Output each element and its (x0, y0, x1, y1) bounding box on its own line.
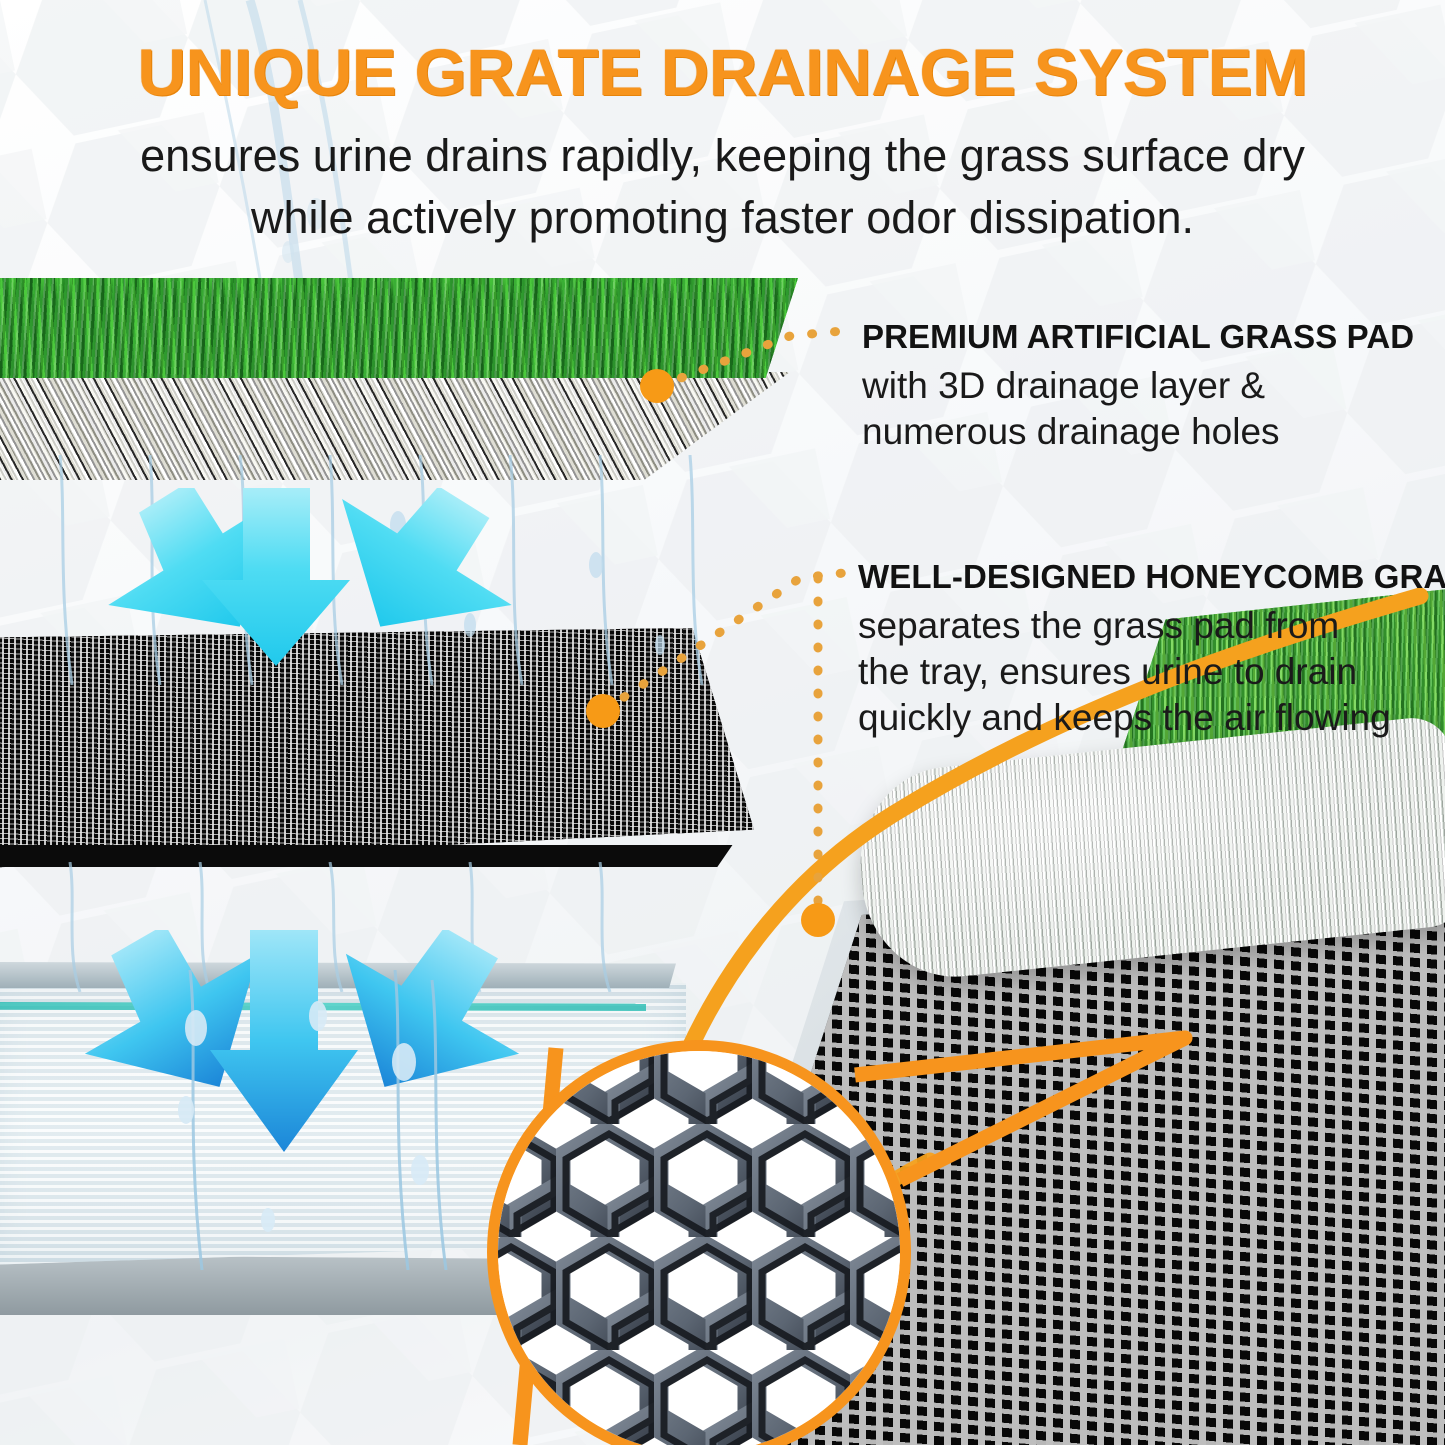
callout-grate-body-line-1: separates the grass pad from (858, 603, 1445, 649)
leader-line-grate (605, 572, 852, 710)
callout-grate-body-line-3: quickly and keeps the air flowing (858, 695, 1445, 741)
leader-anchor-dots (586, 369, 835, 937)
magnifier-lens (487, 1040, 911, 1445)
hexagon-cells-zoomed (487, 1040, 911, 1445)
callout-grass-body-line-2: numerous drainage holes (862, 409, 1414, 455)
infographic-canvas: UNIQUE GRATE DRAINAGE SYSTEM ensures uri… (0, 0, 1445, 1445)
honeycomb-detail-magnifier (487, 1040, 917, 1445)
subtitle-line-2: while actively promoting faster odor dis… (0, 187, 1445, 249)
anchor-dot-grate (586, 694, 620, 728)
callout-honeycomb-grate: WELL-DESIGNED HONEYCOMB GRATE separates … (858, 558, 1445, 741)
page-title: UNIQUE GRATE DRAINAGE SYSTEM (0, 34, 1445, 110)
leader-line-grass (660, 330, 852, 386)
anchor-dot-photo-grate (801, 903, 835, 937)
callout-premium-grass-pad: PREMIUM ARTIFICIAL GRASS PAD with 3D dra… (862, 318, 1414, 455)
callout-grate-body: separates the grass pad from the tray, e… (858, 603, 1445, 741)
callout-grate-body-line-2: the tray, ensures urine to drain (858, 649, 1445, 695)
subtitle-line-1: ensures urine drains rapidly, keeping th… (0, 125, 1445, 187)
callout-grass-body-line-1: with 3D drainage layer & (862, 363, 1414, 409)
callout-grass-body: with 3D drainage layer & numerous draina… (862, 363, 1414, 455)
page-subtitle: ensures urine drains rapidly, keeping th… (0, 125, 1445, 249)
callout-grate-heading: WELL-DESIGNED HONEYCOMB GRATE (858, 558, 1445, 596)
callout-grass-heading: PREMIUM ARTIFICIAL GRASS PAD (862, 318, 1414, 356)
anchor-dot-grass (640, 369, 674, 403)
